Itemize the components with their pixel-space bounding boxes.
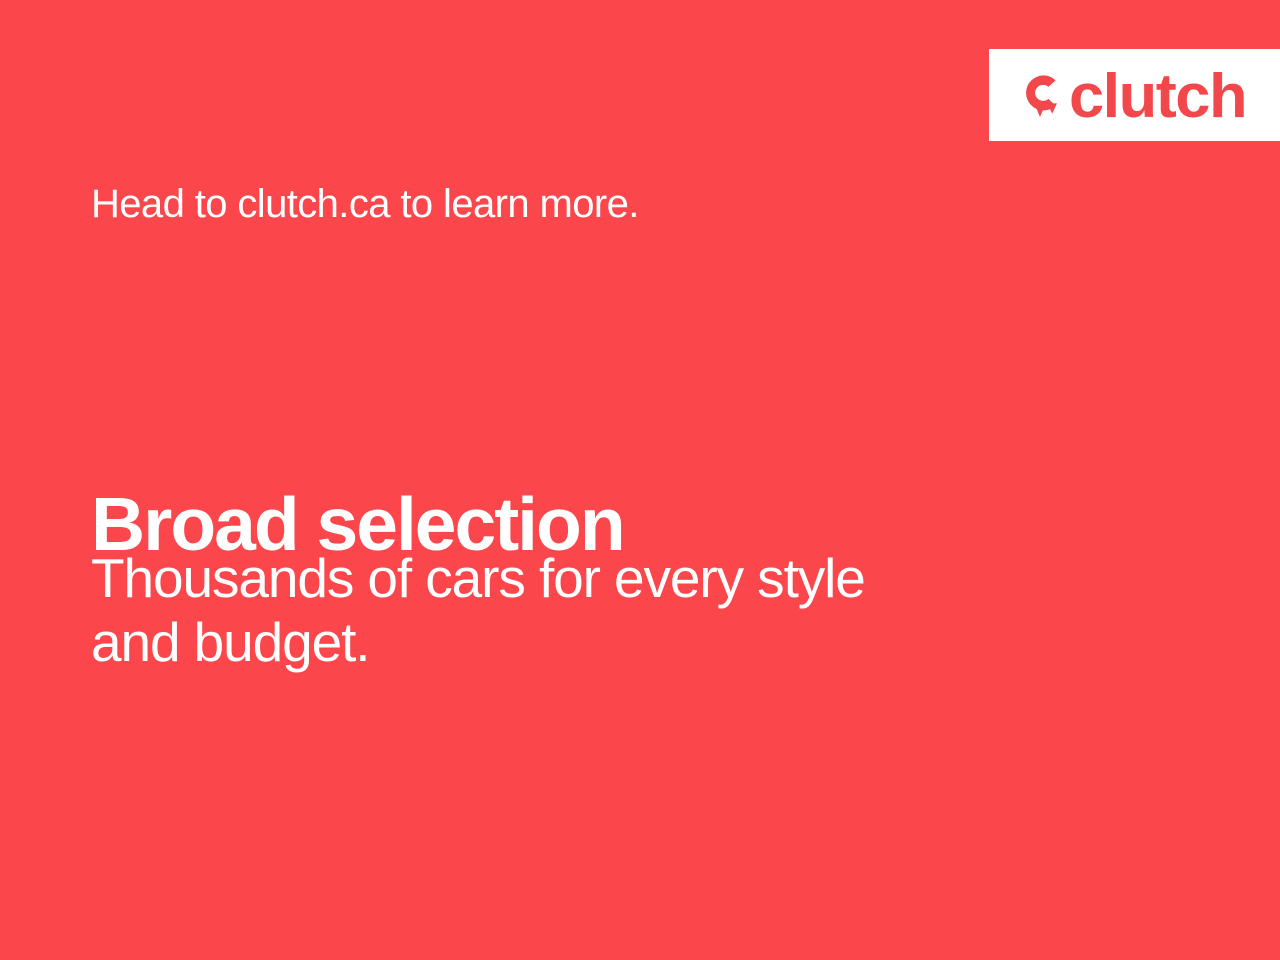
clutch-c-mark-icon — [1021, 70, 1067, 122]
subheading-line-1: Thousands of cars for every style — [91, 546, 1051, 610]
clutch-wordmark: clutch — [1069, 70, 1246, 123]
clutch-logo-lockup: clutch — [1021, 67, 1243, 123]
subheading-line-2: and budget. — [91, 610, 1051, 674]
marketing-slide: clutch Head to clutch.ca to learn more. … — [0, 0, 1280, 960]
brand-logo-plate: clutch — [989, 49, 1280, 141]
eyebrow-text: Head to clutch.ca to learn more. — [91, 182, 639, 226]
subheading: Thousands of cars for every style and bu… — [91, 546, 1051, 675]
